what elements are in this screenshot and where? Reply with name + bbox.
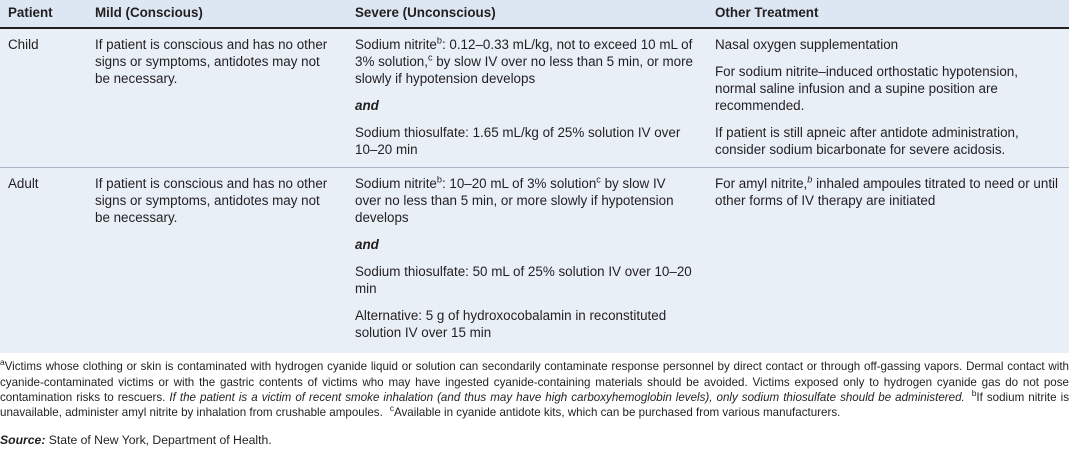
severe-adult-nitrite: Sodium nitriteb: 10–20 mL of 3% solution… [355,175,695,226]
footnote-c-text: Available in cyanide antidote kits, whic… [394,406,840,419]
table-header: Patient Mild (Conscious) Severe (Unconsc… [0,0,1069,28]
cell-other-adult: For amyl nitrite,b inhaled ampoules titr… [705,168,1069,354]
cell-severe-child: Sodium nitriteb: 0.12–0.33 mL/kg, not to… [345,28,705,168]
cell-patient-child: Child [0,28,85,168]
cell-patient-adult: Adult [0,168,85,354]
table-row: Child If patient is conscious and has no… [0,28,1069,168]
column-header-mild: Mild (Conscious) [85,0,345,28]
cell-mild-child: If patient is conscious and has no other… [85,28,345,168]
cyanide-treatment-table: Patient Mild (Conscious) Severe (Unconsc… [0,0,1069,353]
source-text: State of New York, Department of Health. [45,433,271,447]
source-label: Source: [0,433,45,447]
source-line: Source: State of New York, Department of… [0,420,1069,449]
other-child-oxygen: Nasal oxygen supplementation [715,36,1059,53]
cell-other-child: Nasal oxygen supplementation For sodium … [705,28,1069,168]
footnote-a-italic: If the patient is a victim of recent smo… [169,391,964,404]
cell-mild-adult: If patient is conscious and has no other… [85,168,345,354]
table-figure: Patient Mild (Conscious) Severe (Unconsc… [0,0,1069,447]
severe-adult-thiosulfate: Sodium thiosulfate: 50 mL of 25% solutio… [355,263,695,297]
severe-adult-alternative: Alternative: 5 g of hydroxocobalamin in … [355,307,695,341]
severe-adult-conjunction: and [355,236,695,253]
other-child-hypotension: For sodium nitrite–induced orthostatic h… [715,63,1059,114]
footnotes-block: aVictims whose clothing or skin is conta… [0,353,1069,420]
cell-severe-adult: Sodium nitriteb: 10–20 mL of 3% solution… [345,168,705,354]
other-adult-amyl-nitrite: For amyl nitrite,b inhaled ampoules titr… [715,175,1059,209]
table-row: Adult If patient is conscious and has no… [0,168,1069,354]
severe-child-nitrite: Sodium nitriteb: 0.12–0.33 mL/kg, not to… [355,36,695,87]
severe-child-conjunction: and [355,97,695,114]
other-child-apnea: If patient is still apneic after antidot… [715,124,1059,158]
table-body: Child If patient is conscious and has no… [0,28,1069,353]
column-header-patient: Patient [0,0,85,28]
column-header-other-treatment: Other Treatment [705,0,1069,28]
column-header-severe: Severe (Unconscious) [345,0,705,28]
severe-child-thiosulfate: Sodium thiosulfate: 1.65 mL/kg of 25% so… [355,124,695,158]
header-row: Patient Mild (Conscious) Severe (Unconsc… [0,0,1069,28]
